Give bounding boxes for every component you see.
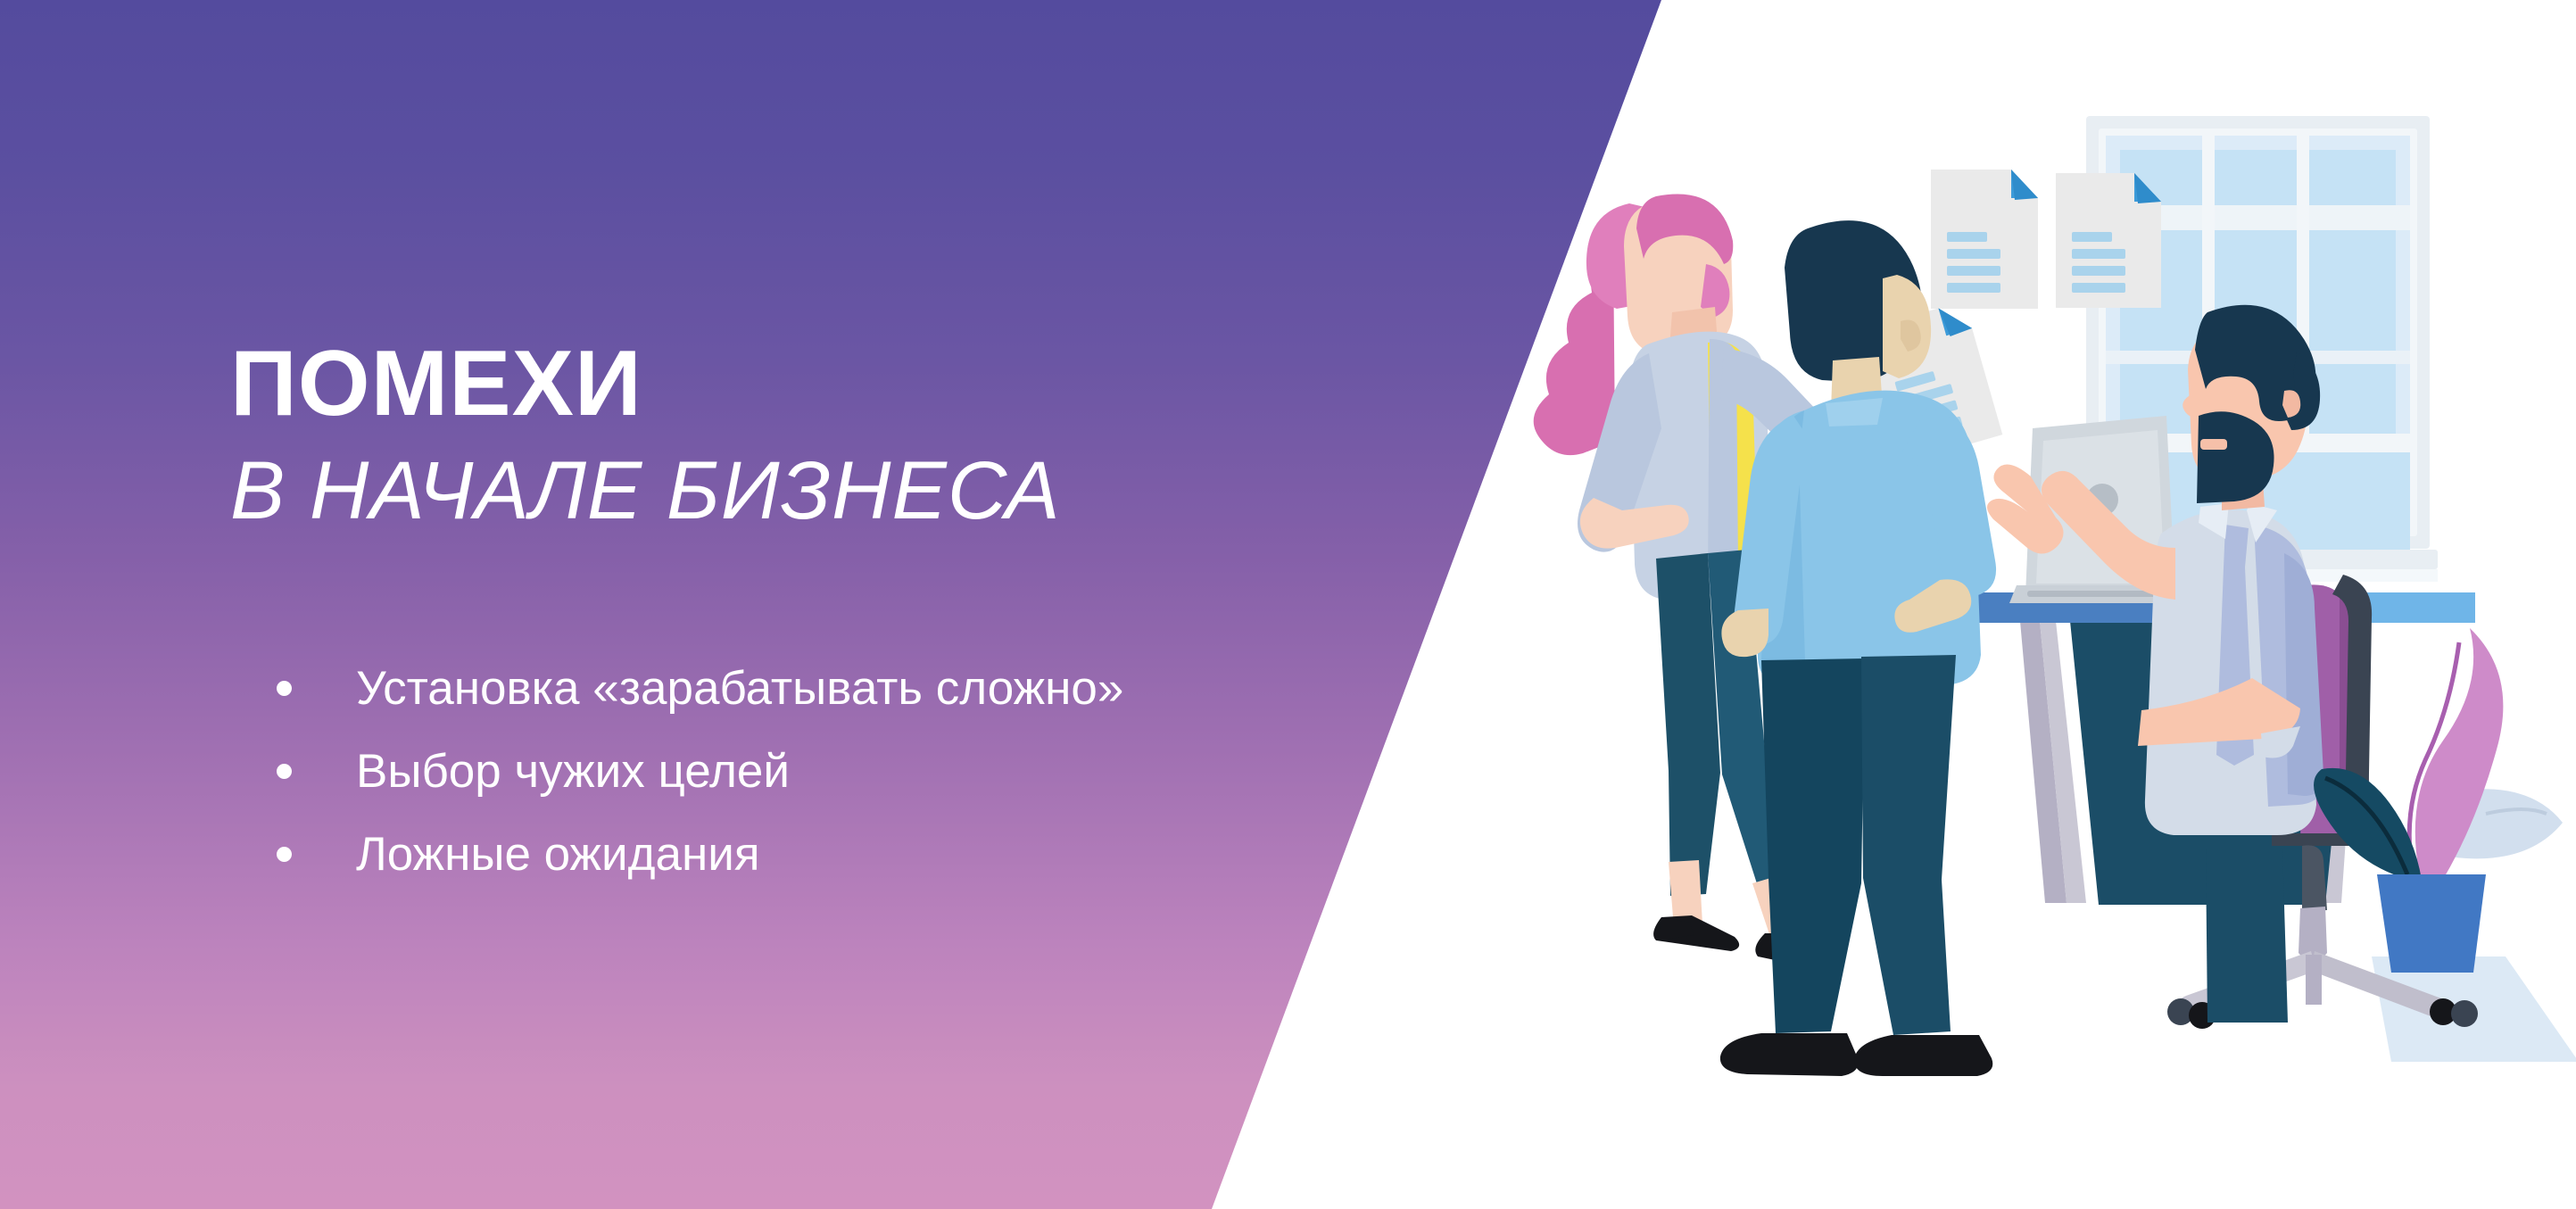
list-item: Установка «зарабатывать сложно» bbox=[277, 647, 1123, 730]
bullet-dot-icon bbox=[277, 847, 292, 862]
bullet-list: Установка «зарабатывать сложно» Выбор чу… bbox=[277, 647, 1123, 896]
bullet-dot-icon bbox=[277, 681, 292, 696]
bullet-item-label: Выбор чужих целей bbox=[356, 748, 790, 795]
headline-block: ПОМЕХИ В НАЧАЛЕ БИЗНЕСА bbox=[230, 337, 1301, 532]
headline-secondary: В НАЧАЛЕ БИЗНЕСА bbox=[230, 450, 1301, 532]
list-item: Ложные ожидания bbox=[277, 813, 1123, 896]
bullet-item-label: Ложные ожидания bbox=[356, 831, 760, 878]
slide-canvas: ПОМЕХИ В НАЧАЛЕ БИЗНЕСА Установка «зараб… bbox=[0, 0, 2576, 1209]
list-item: Выбор чужих целей bbox=[277, 730, 1123, 813]
bullet-dot-icon bbox=[277, 764, 292, 779]
headline-primary: ПОМЕХИ bbox=[230, 337, 1301, 430]
floating-document bbox=[1931, 170, 2038, 309]
bullet-item-label: Установка «зарабатывать сложно» bbox=[356, 665, 1123, 712]
office-team-paperwork-illustration bbox=[1392, 54, 2576, 1187]
floating-document bbox=[2056, 173, 2161, 308]
